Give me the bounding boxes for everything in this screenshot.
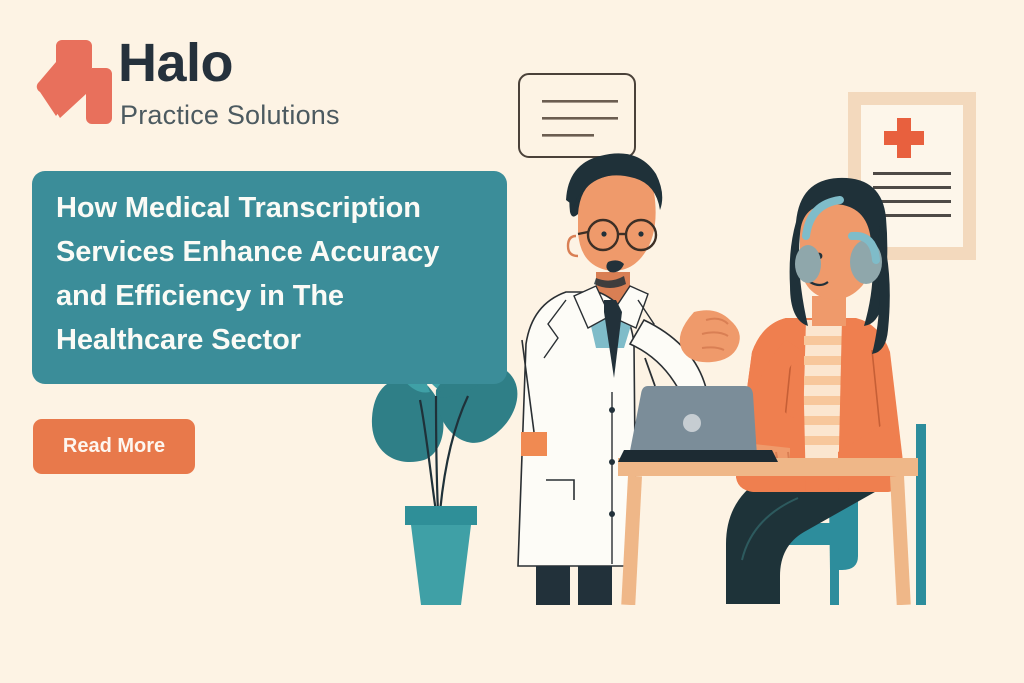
brand-tagline: Practice Solutions	[120, 102, 340, 129]
brand-name: Halo	[118, 36, 233, 90]
read-more-button[interactable]: Read More	[33, 419, 195, 474]
desk-icon	[618, 458, 918, 605]
speech-bubble-icon	[519, 74, 637, 185]
page-title: How Medical Transcription Services Enhan…	[56, 186, 561, 362]
promo-banner: Halo Practice Solutions How Medical Tran…	[0, 0, 1024, 683]
patient-figure-icon	[726, 178, 904, 604]
medical-cross-slash-icon	[36, 38, 112, 124]
medical-poster-icon	[848, 92, 976, 260]
laptop-icon	[618, 358, 778, 462]
chair-icon	[752, 423, 926, 606]
brand-logo[interactable]: Halo Practice Solutions	[36, 34, 376, 138]
